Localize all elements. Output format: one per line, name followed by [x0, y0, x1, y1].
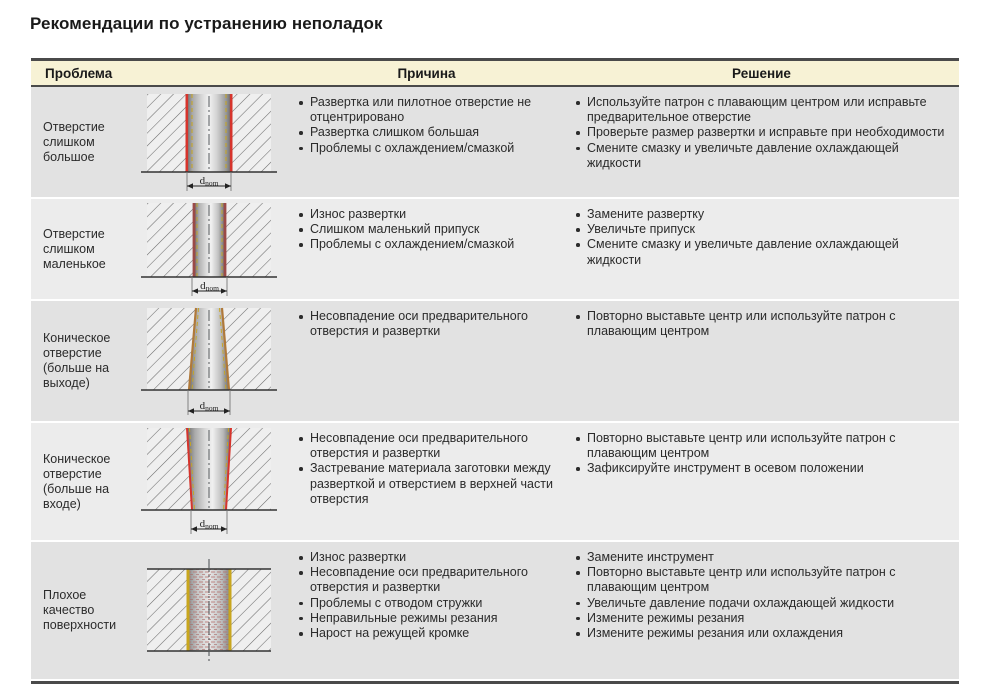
list-item: Несовпадение оси предварительного отверс…: [297, 309, 560, 339]
figure-poor-surface-finish: [139, 551, 279, 671]
problem-label: Коническое отверстие (больше на выходе): [31, 331, 139, 391]
table-header-row: Проблема Причина Решение: [31, 61, 959, 87]
list-item: Нарост на режущей кромке: [297, 626, 560, 641]
troubleshooting-table: Проблема Причина Решение Отверстие слишк…: [31, 58, 959, 684]
problem-label: Коническое отверстие (больше на входе): [31, 452, 139, 512]
list-item: Увеличьте припуск: [574, 222, 953, 237]
cause-list: Несовпадение оси предварительного отверс…: [297, 431, 560, 507]
cell-problem: Отверстие слишком маленькое: [31, 199, 289, 299]
table-row: Отверстие слишком маленькое: [31, 199, 959, 301]
header-solution: Решение: [564, 66, 959, 81]
list-item: Неправильные режимы резания: [297, 611, 560, 626]
cell-solution: Замените инструмент Повторно выставьте ц…: [564, 542, 959, 679]
cell-problem: Коническое отверстие (больше на входе): [31, 423, 289, 540]
list-item: Несовпадение оси предварительного отверс…: [297, 431, 560, 461]
cause-list: Несовпадение оси предварительного отверс…: [297, 309, 560, 339]
cell-problem: Отверстие слишком большое: [31, 87, 289, 197]
list-item: Измените режимы резания или охлаждения: [574, 626, 953, 641]
list-item: Развертка слишком большая: [297, 125, 560, 140]
cell-solution: Повторно выставьте центр или используйте…: [564, 423, 959, 540]
cell-solution: Замените развертку Увеличьте припуск Сме…: [564, 199, 959, 299]
cell-cause: Износ развертки Слишком маленький припус…: [289, 199, 564, 299]
list-item: Замените инструмент: [574, 550, 953, 565]
cell-problem: Плохое качество поверхности: [31, 542, 289, 679]
list-item: Увеличьте давление подачи охлаждающей жи…: [574, 596, 953, 611]
dimension-label: dnom: [200, 518, 219, 531]
list-item: Износ развертки: [297, 550, 560, 565]
dimension-label: dnom: [200, 280, 219, 293]
table-row: Коническое отверстие (больше на выходе): [31, 301, 959, 423]
list-item: Повторно выставьте центр или используйте…: [574, 565, 953, 595]
cell-cause: Несовпадение оси предварительного отверс…: [289, 301, 564, 421]
list-item: Смените смазку и увеличьте давление охла…: [574, 141, 953, 171]
list-item: Проблемы с охлаждением/смазкой: [297, 237, 560, 252]
problem-label: Отверстие слишком большое: [31, 120, 139, 165]
problem-label: Отверстие слишком маленькое: [31, 227, 139, 272]
table-row: Отверстие слишком большое: [31, 87, 959, 199]
table-bottom-rule: [31, 681, 959, 684]
figure-taper-wider-at-entry: dnom: [139, 424, 279, 539]
solution-list: Повторно выставьте центр или используйте…: [574, 431, 953, 477]
cell-cause: Несовпадение оси предварительного отверс…: [289, 423, 564, 540]
list-item: Несовпадение оси предварительного отверс…: [297, 565, 560, 595]
cause-list: Износ развертки Несовпадение оси предвар…: [297, 550, 560, 641]
cause-list: Развертка или пилотное отверстие не отце…: [297, 95, 560, 156]
list-item: Проблемы с охлаждением/смазкой: [297, 141, 560, 156]
list-item: Используйте патрон с плавающим центром и…: [574, 95, 953, 125]
figure-hole-too-small: dnom: [139, 199, 279, 299]
list-item: Проверьте размер развертки и исправьте п…: [574, 125, 953, 140]
figure-hole-too-large: dnom: [139, 90, 279, 195]
figure-taper-wider-at-exit: dnom: [139, 302, 279, 420]
cell-problem: Коническое отверстие (больше на выходе): [31, 301, 289, 421]
solution-list: Используйте патрон с плавающим центром и…: [574, 95, 953, 171]
list-item: Застревание материала заготовки между ра…: [297, 461, 560, 507]
list-item: Замените развертку: [574, 207, 953, 222]
cell-cause: Развертка или пилотное отверстие не отце…: [289, 87, 564, 197]
dimension-label: dnom: [200, 175, 219, 188]
page-title: Рекомендации по устранению неполадок: [30, 14, 383, 34]
header-problem: Проблема: [31, 66, 289, 81]
dimension-label: dnom: [200, 400, 219, 413]
cell-cause: Износ развертки Несовпадение оси предвар…: [289, 542, 564, 679]
cause-list: Износ развертки Слишком маленький припус…: [297, 207, 560, 253]
list-item: Развертка или пилотное отверстие не отце…: [297, 95, 560, 125]
list-item: Измените режимы резания: [574, 611, 953, 626]
list-item: Износ развертки: [297, 207, 560, 222]
header-cause: Причина: [289, 66, 564, 81]
list-item: Слишком маленький припуск: [297, 222, 560, 237]
list-item: Повторно выставьте центр или используйте…: [574, 309, 953, 339]
solution-list: Повторно выставьте центр или используйте…: [574, 309, 953, 339]
problem-label: Плохое качество поверхности: [31, 588, 139, 633]
list-item: Смените смазку и увеличьте давление охла…: [574, 237, 953, 267]
cell-solution: Используйте патрон с плавающим центром и…: [564, 87, 959, 197]
list-item: Зафиксируйте инструмент в осевом положен…: [574, 461, 953, 476]
solution-list: Замените инструмент Повторно выставьте ц…: [574, 550, 953, 641]
table-row: Плохое качество поверхности: [31, 542, 959, 681]
list-item: Повторно выставьте центр или используйте…: [574, 431, 953, 461]
cell-solution: Повторно выставьте центр или используйте…: [564, 301, 959, 421]
list-item: Проблемы с отводом стружки: [297, 596, 560, 611]
table-row: Коническое отверстие (больше на входе): [31, 423, 959, 542]
solution-list: Замените развертку Увеличьте припуск Сме…: [574, 207, 953, 268]
